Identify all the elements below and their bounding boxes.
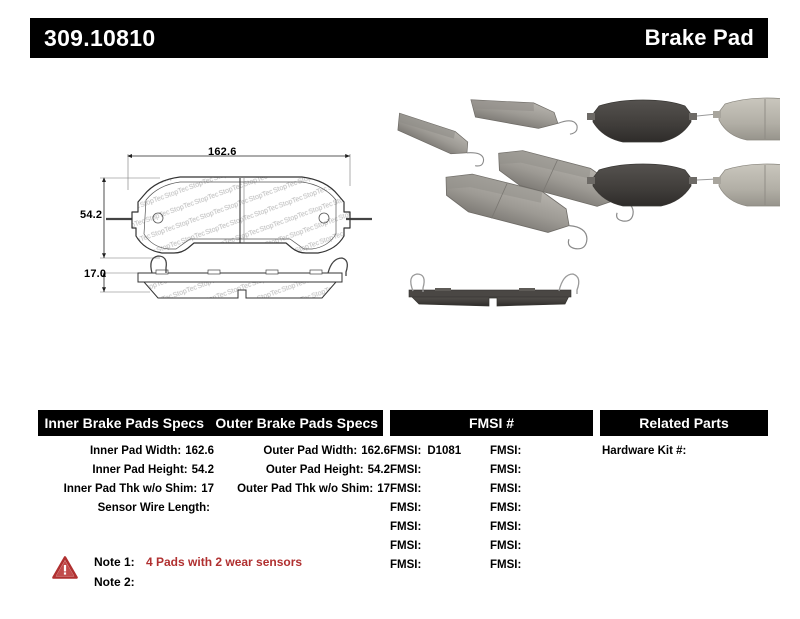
specifications-table: Inner Brake Pads Specs Outer Brake Pads …: [30, 410, 768, 545]
notes-section: Note 1: 4 Pads with 2 wear sensors Note …: [52, 552, 452, 600]
note-1-value: 4 Pads with 2 wear sensors: [146, 552, 302, 572]
warning-triangle-icon: [52, 556, 78, 579]
spec-row: Inner Pad Height: 54.2: [38, 461, 214, 480]
header-inner-specs-label: Inner Brake Pads Specs: [38, 415, 211, 431]
fmsi-label: FMSI:: [390, 480, 421, 499]
spec-label: Outer Pad Thk w/o Shim:: [237, 480, 373, 499]
fmsi-row: FMSI:: [390, 499, 490, 518]
dimension-label-width: 162.6: [208, 146, 237, 158]
inner-specs-column: Inner Pad Width: 162.6 Inner Pad Height:…: [38, 442, 214, 518]
fmsi-label: FMSI:: [490, 556, 521, 575]
related-parts-column: Hardware Kit #:: [602, 442, 768, 461]
fmsi-row: FMSI:: [490, 480, 590, 499]
spec-row: Outer Pad Height: 54.2: [214, 461, 390, 480]
fmsi-label: FMSI:: [490, 518, 521, 537]
spec-row: Inner Pad Width: 162.6: [38, 442, 214, 461]
spec-value: 17: [377, 480, 390, 499]
fmsi-row: FMSI:: [490, 499, 590, 518]
related-part-row: Hardware Kit #:: [602, 442, 768, 461]
header-related-parts: Related Parts: [600, 410, 768, 436]
outer-specs-column: Outer Pad Width: 162.6 Outer Pad Height:…: [214, 442, 390, 499]
product-photos: [395, 82, 780, 352]
spec-label: Inner Pad Width:: [90, 442, 181, 461]
header-fmsi: FMSI #: [390, 410, 593, 436]
header-inner-outer-specs: Inner Brake Pads Specs Outer Brake Pads …: [38, 410, 383, 436]
fmsi-row: FMSI:: [390, 461, 490, 480]
dimension-label-height: 54.2: [80, 209, 102, 221]
brake-pad-drawing-svg: StopTech: [60, 140, 390, 320]
fmsi-row: FMSI:: [390, 480, 490, 499]
spec-row: Sensor Wire Length:: [38, 499, 214, 518]
fmsi-row: FMSI:: [390, 518, 490, 537]
spec-label: Inner Pad Height:: [92, 461, 187, 480]
page-title: Brake Pad: [645, 27, 754, 49]
fmsi-value: D1081: [427, 442, 461, 461]
spec-value: 162.6: [185, 442, 214, 461]
spec-value: 54.2: [368, 461, 390, 480]
fmsi-label: FMSI:: [490, 461, 521, 480]
spec-value: 162.6: [361, 442, 390, 461]
spec-row: Inner Pad Thk w/o Shim: 17: [38, 480, 214, 499]
spec-label: Outer Pad Width:: [263, 442, 357, 461]
fmsi-label: FMSI:: [490, 442, 521, 461]
fmsi-label: FMSI:: [490, 499, 521, 518]
spec-value: 54.2: [192, 461, 214, 480]
related-part-label: Hardware Kit #:: [602, 442, 686, 461]
spec-label: Outer Pad Height:: [266, 461, 364, 480]
fmsi-label: FMSI:: [490, 480, 521, 499]
fmsi-label: FMSI:: [390, 518, 421, 537]
fmsi-row: FMSI:: [490, 518, 590, 537]
spec-label: Sensor Wire Length:: [98, 499, 210, 518]
note-1-row: Note 1: 4 Pads with 2 wear sensors: [94, 552, 302, 572]
spec-row: Outer Pad Width: 162.6: [214, 442, 390, 461]
technical-drawing: 162.6 54.2 17.0 StopTech: [60, 140, 390, 320]
fmsi-label: FMSI:: [390, 499, 421, 518]
fmsi-label: FMSI:: [390, 461, 421, 480]
fmsi-column-b: FMSI: FMSI: FMSI: FMSI: FMSI: FMSI: FMSI…: [490, 442, 590, 575]
fmsi-row: FMSI:: [490, 537, 590, 556]
dimension-label-thickness: 17.0: [84, 268, 106, 280]
fmsi-row: FMSI:: [490, 461, 590, 480]
spec-label: Inner Pad Thk w/o Shim:: [64, 480, 198, 499]
notes-text-block: Note 1: 4 Pads with 2 wear sensors Note …: [94, 552, 302, 592]
fmsi-row: FMSI:: [490, 442, 590, 461]
page-header-bar: 309.10810 Brake Pad: [30, 18, 768, 58]
fmsi-label: FMSI:: [490, 537, 521, 556]
fmsi-label: FMSI:: [390, 442, 421, 461]
note-2-row: Note 2:: [94, 572, 302, 592]
note-1-label: Note 1:: [94, 552, 144, 572]
product-photo-svg: [395, 82, 780, 352]
spec-value: 17: [201, 480, 214, 499]
note-2-label: Note 2:: [94, 572, 144, 592]
fmsi-row: FMSI:: [490, 556, 590, 575]
part-number: 309.10810: [44, 27, 155, 50]
fmsi-row: FMSI: D1081: [390, 442, 490, 461]
header-outer-specs-label: Outer Brake Pads Specs: [211, 415, 384, 431]
spec-row: Outer Pad Thk w/o Shim: 17: [214, 480, 390, 499]
